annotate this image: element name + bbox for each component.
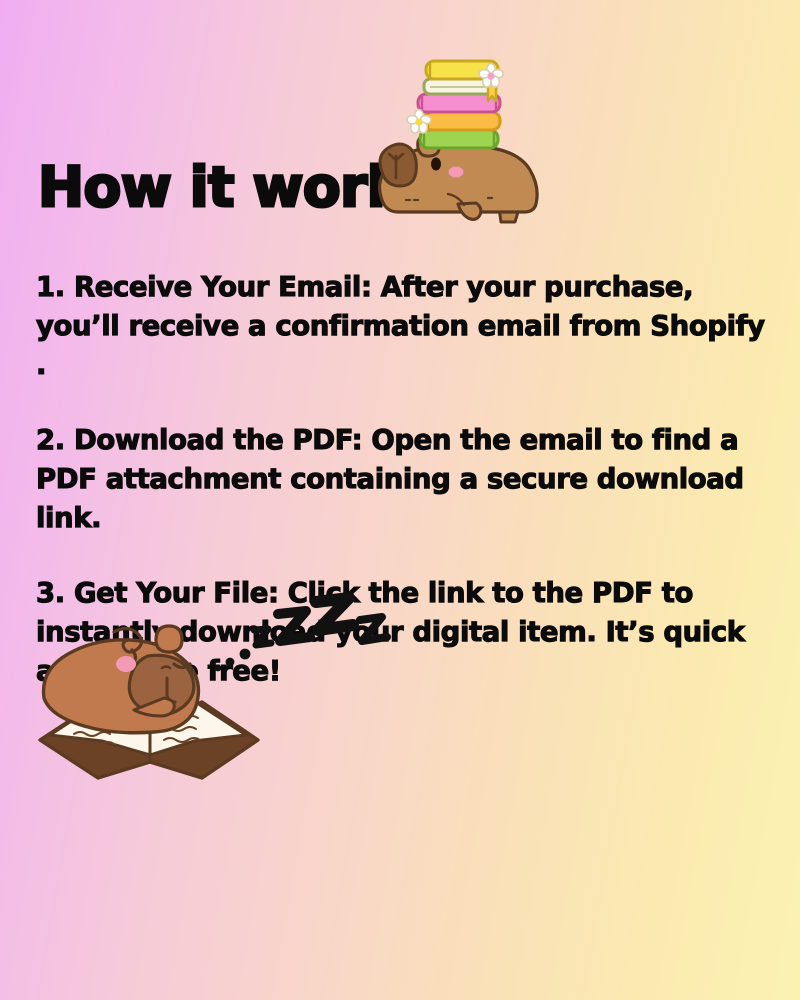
capybara-eye: [431, 158, 441, 171]
sleeping-capybara-nostril: [162, 667, 170, 669]
title-block: How it works: [38, 160, 368, 215]
page-title: How it works: [38, 160, 368, 215]
sleep-dots: [215, 649, 251, 672]
book-green: [420, 130, 498, 148]
z-small-2: [360, 617, 387, 641]
z-medium: [278, 611, 310, 641]
z-small-1: [254, 629, 271, 645]
sleeping-capybara-body-group: [44, 626, 199, 733]
book-orange: [424, 112, 500, 130]
step-1: 1. Receive Your Email: After your purcha…: [36, 268, 766, 385]
zzz-sleep-marks: [208, 592, 408, 687]
capybara-front-leg: [458, 203, 481, 219]
capybara-snout-patch: [380, 144, 416, 186]
sleeping-capybara-ear: [156, 626, 182, 652]
step-2: 2. Download the PDF: Open the email to f…: [36, 421, 766, 538]
capybara-cheek: [449, 167, 464, 178]
poster-canvas: How it works: [0, 0, 800, 1000]
sleep-z-glyphs: [254, 598, 387, 645]
z-large: [316, 598, 353, 630]
capybara-with-book-stack-illustration: [352, 52, 542, 232]
sleeping-capybara-cheek: [116, 656, 136, 672]
